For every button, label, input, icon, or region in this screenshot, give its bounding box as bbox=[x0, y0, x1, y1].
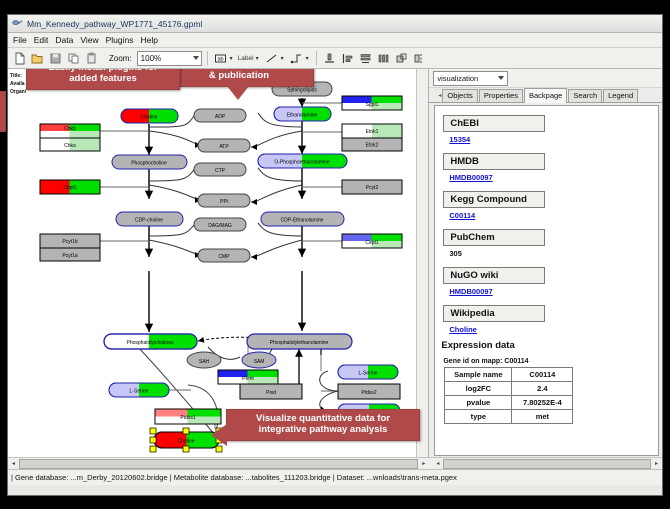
svg-text:Ethanolamine: Ethanolamine bbox=[287, 113, 318, 119]
window-title: Mm_Kennedy_pathway_WP1771_45176.gpml bbox=[27, 19, 202, 29]
text-label-icon[interactable]: ab bbox=[213, 51, 228, 66]
backpage-section-wikipedia: Wikipedia Choline bbox=[443, 303, 658, 334]
align-left-icon[interactable] bbox=[340, 51, 355, 66]
side-tabs: ◂ Objects Properties Backpage Search Leg… bbox=[429, 88, 662, 103]
node-chkb-chka[interactable]: Chkb Chka bbox=[40, 124, 100, 151]
svg-text:DAG/MAG: DAG/MAG bbox=[208, 223, 232, 229]
pisd-route bbox=[271, 347, 338, 411]
chevron-down-icon[interactable]: ▾ bbox=[281, 55, 284, 62]
menu-view[interactable]: View bbox=[80, 35, 98, 45]
cell-value-type: met bbox=[512, 410, 573, 424]
svg-text:O-Phosphoethanolamine: O-Phosphoethanolamine bbox=[274, 160, 330, 166]
toolbar-divider bbox=[207, 51, 208, 65]
visualization-bar: visualization bbox=[429, 69, 662, 88]
node-adp[interactable]: ADP bbox=[194, 109, 246, 122]
svg-text:SAH: SAH bbox=[199, 359, 210, 365]
pubchem-value: 305 bbox=[449, 249, 658, 258]
node-sam[interactable]: SAM bbox=[242, 352, 276, 368]
canvas-organism-label: Organi bbox=[10, 89, 27, 95]
visualization-select[interactable]: visualization bbox=[433, 71, 508, 86]
save-icon[interactable] bbox=[48, 51, 63, 66]
cell-key-type: type bbox=[445, 410, 512, 424]
hmdb-link[interactable]: HMDB00097 bbox=[449, 173, 658, 182]
backpage-section-hmdb: HMDB HMDB00097 bbox=[443, 151, 658, 182]
svg-text:L-Serine: L-Serine bbox=[359, 371, 378, 377]
callout-draw: Draw for presentation & publication bbox=[164, 69, 314, 87]
node-phosphatidylethanolamine[interactable]: Phosphatidylethanolamine bbox=[247, 334, 352, 349]
svg-text:ADP: ADP bbox=[215, 114, 226, 120]
scroll-left-icon[interactable]: ◂ bbox=[8, 458, 19, 469]
svg-text:Etnk2: Etnk2 bbox=[366, 143, 379, 149]
svg-text:Cept1: Cept1 bbox=[365, 240, 379, 246]
node-ethanolamine-top[interactable]: Ethanolamine bbox=[274, 107, 331, 121]
zoom-combobox[interactable]: 100% bbox=[137, 51, 202, 66]
copy-icon[interactable] bbox=[66, 51, 81, 66]
node-ptdss1[interactable]: Ptdss1 bbox=[155, 409, 221, 424]
backpage-section-kegg: Kegg Compound C00114 bbox=[443, 189, 658, 220]
backpage-content[interactable]: ChEBI 15354 HMDB HMDB00097 Kegg Compound… bbox=[434, 105, 659, 456]
node-cdp-choline[interactable]: CDP-choline bbox=[116, 212, 183, 226]
pubchem-header: PubChem bbox=[443, 229, 545, 246]
kegg-header: Kegg Compound bbox=[443, 191, 545, 208]
open-icon[interactable] bbox=[30, 51, 45, 66]
nugo-header: NuGO wiki bbox=[443, 267, 545, 284]
svg-text:Sgpl1: Sgpl1 bbox=[366, 102, 379, 108]
visualization-value: visualization bbox=[437, 74, 478, 83]
node-atp[interactable]: ATP bbox=[198, 139, 250, 152]
svg-text:Choline: Choline bbox=[141, 115, 158, 121]
side-scroll-right-icon[interactable]: ▸ bbox=[651, 458, 662, 469]
pathway-canvas[interactable]: Title: Availa Organi bbox=[8, 69, 429, 457]
chevron-down-icon[interactable]: ▾ bbox=[256, 55, 259, 62]
node-l-serine-right[interactable]: L-Serine bbox=[338, 365, 398, 379]
chevron-down-icon[interactable]: ▾ bbox=[306, 55, 309, 62]
cell-value-log2fc: 2.4 bbox=[512, 382, 573, 396]
svg-text:Sphingolipids: Sphingolipids bbox=[287, 88, 317, 94]
svg-text:Pcyt1b: Pcyt1b bbox=[62, 239, 78, 245]
svg-text:Chkb: Chkb bbox=[64, 126, 76, 132]
cofactor-curves-left bbox=[149, 116, 201, 255]
status-text: | Gene database: ...m_Derby_20120602.bri… bbox=[11, 473, 457, 482]
title-bar: Mm_Kennedy_pathway_WP1771_45176.gpml bbox=[8, 15, 662, 33]
kegg-link[interactable]: C00114 bbox=[449, 211, 658, 220]
cell-value-sample-name: C00114 bbox=[512, 368, 573, 382]
svg-text:CDP-choline: CDP-choline bbox=[135, 218, 163, 224]
node-ppi[interactable]: PPi bbox=[198, 194, 250, 207]
canvas-available-label: Availa bbox=[10, 81, 25, 87]
svg-text:Phosphatidylethanolamine: Phosphatidylethanolamine bbox=[270, 340, 329, 346]
node-ptdss2[interactable]: Ptdss2 bbox=[338, 384, 400, 399]
stack-vertical-icon[interactable] bbox=[358, 51, 373, 66]
menu-bar: File Edit Data View Plugins Help bbox=[8, 33, 662, 48]
svg-text:CDP-Ethanolamine: CDP-Ethanolamine bbox=[281, 218, 324, 224]
svg-text:Ptdss1: Ptdss1 bbox=[180, 415, 196, 421]
side-hscroll-thumb[interactable] bbox=[443, 459, 651, 469]
node-phosphocholine[interactable]: Phosphocholine bbox=[112, 155, 187, 169]
menu-file[interactable]: File bbox=[13, 35, 27, 45]
node-pemt[interactable]: Pemt bbox=[218, 370, 278, 384]
callout-visualize-line1: Visualize quantitative data for bbox=[256, 413, 390, 424]
callout-draw-arrow bbox=[227, 86, 249, 100]
svg-text:Choline: Choline bbox=[178, 439, 195, 445]
horizontal-scrollbars[interactable]: ◂ ▸ ◂ ▸ bbox=[8, 457, 662, 469]
ungroup-icon[interactable] bbox=[412, 51, 427, 66]
wikipedia-header: Wikipedia bbox=[443, 305, 545, 322]
gene-id-on-mapp: Gene id on mapp: C00114 bbox=[443, 358, 658, 365]
tab-scroll-left-icon[interactable]: ◂ bbox=[438, 92, 441, 99]
node-sah[interactable]: SAH bbox=[187, 352, 221, 368]
nugo-link[interactable]: HMDB00097 bbox=[449, 287, 658, 296]
callout-plugins-line2: added features bbox=[69, 73, 137, 84]
node-pisd[interactable]: Pisd bbox=[240, 384, 302, 399]
group-icon[interactable] bbox=[394, 51, 409, 66]
callout-visualize-arrow bbox=[211, 424, 227, 446]
toolbar-divider bbox=[316, 51, 317, 65]
connector-icon[interactable] bbox=[289, 51, 304, 66]
svg-text:Pisd: Pisd bbox=[266, 390, 276, 396]
align-bottom-icon[interactable] bbox=[322, 51, 337, 66]
canvas-title-label: Title: bbox=[10, 73, 22, 79]
node-choline-top[interactable]: Choline bbox=[121, 109, 178, 123]
svg-text:Phosphocholine: Phosphocholine bbox=[131, 161, 167, 167]
node-phosphatidylcholines[interactable]: Phosphatidylcholines bbox=[104, 334, 197, 349]
callout-draw-line2: & publication bbox=[209, 70, 269, 81]
cell-key-pvalue: pvalue bbox=[445, 396, 512, 410]
line-icon[interactable] bbox=[264, 51, 279, 66]
pathvisio-window: Mm_Kennedy_pathway_WP1771_45176.gpml Fil… bbox=[7, 14, 663, 496]
cell-value-pvalue: 7.80252E-4 bbox=[512, 396, 573, 410]
toolbar: Zoom: 100% ab ▾ Label ▾ ▾ ▾ bbox=[8, 48, 662, 69]
svg-text:ATP: ATP bbox=[219, 144, 229, 150]
svg-text:Pcyt2: Pcyt2 bbox=[366, 185, 379, 191]
chevron-down-icon bbox=[193, 56, 199, 60]
node-sgpl1[interactable]: Sgpl1 bbox=[342, 96, 402, 110]
svg-text:CMP: CMP bbox=[218, 254, 230, 260]
menu-edit[interactable]: Edit bbox=[34, 35, 49, 45]
canvas-vertical-scrollbar[interactable] bbox=[416, 69, 428, 457]
menu-data[interactable]: Data bbox=[55, 35, 73, 45]
canvas-hscroll-thumb[interactable] bbox=[19, 459, 418, 469]
expression-data-title: Expression data bbox=[441, 340, 658, 351]
tab-backpage[interactable]: Backpage bbox=[524, 88, 567, 103]
label-button[interactable]: Label bbox=[238, 55, 254, 62]
callout-visualize: Visualize quantitative data for integrat… bbox=[226, 409, 420, 441]
node-o-phosphoethanolamine[interactable]: O-Phosphoethanolamine bbox=[258, 154, 347, 168]
wikipedia-link[interactable]: Choline bbox=[449, 325, 658, 334]
distribute-horizontal-icon[interactable] bbox=[376, 51, 391, 66]
node-pcyt2[interactable]: Pcyt2 bbox=[342, 180, 402, 194]
tab-search[interactable]: Search bbox=[568, 89, 602, 102]
node-pcyt1b-pcyt1a[interactable]: Pcyt1b Pcyt1a bbox=[40, 234, 100, 261]
chebi-link[interactable]: 15354 bbox=[449, 135, 658, 144]
node-dag-mag[interactable]: DAG/MAG bbox=[194, 218, 246, 231]
cell-key-log2fc: log2FC bbox=[445, 382, 512, 396]
backpage-section-chebi: ChEBI 15354 bbox=[443, 113, 658, 144]
zoom-label: Zoom: bbox=[109, 54, 132, 63]
scroll-right-icon[interactable]: ▸ bbox=[418, 458, 429, 469]
node-cept1[interactable]: Cept1 bbox=[342, 234, 402, 248]
node-l-serine-left[interactable]: L-Serine bbox=[109, 383, 169, 397]
tab-legend[interactable]: Legend bbox=[603, 89, 638, 102]
svg-text:Pcyt1a: Pcyt1a bbox=[62, 253, 78, 259]
svg-text:Phosphatidylcholines: Phosphatidylcholines bbox=[127, 340, 174, 346]
hmdb-header: HMDB bbox=[443, 153, 545, 170]
backpage-section-pubchem: PubChem 305 bbox=[443, 227, 658, 258]
svg-text:SAM: SAM bbox=[254, 359, 265, 365]
tab-properties[interactable]: Properties bbox=[479, 89, 523, 102]
chevron-down-icon[interactable]: ▾ bbox=[230, 55, 233, 62]
chevron-down-icon bbox=[498, 76, 504, 80]
callout-plugins: Easily install plugins for added feature… bbox=[26, 69, 180, 90]
zoom-value: 100% bbox=[141, 54, 161, 63]
svg-text:Pemt: Pemt bbox=[242, 376, 254, 382]
cofactor-curves-right bbox=[251, 113, 302, 257]
svg-text:Chpt1: Chpt1 bbox=[63, 185, 77, 191]
table-row: pvalue 7.80252E-4 bbox=[445, 396, 573, 410]
callout-links: Link to external databases for more info… bbox=[0, 91, 6, 132]
table-row: Sample name C00114 bbox=[445, 368, 573, 382]
backpage-section-nugo: NuGO wiki HMDB00097 bbox=[443, 265, 658, 296]
menu-help[interactable]: Help bbox=[141, 35, 158, 45]
side-scroll-left-icon[interactable]: ◂ bbox=[432, 458, 443, 469]
node-cmp[interactable]: CMP bbox=[198, 249, 250, 262]
node-etnk1-etnk2[interactable]: Etnk1 Etnk2 bbox=[342, 124, 402, 151]
chebi-header: ChEBI bbox=[443, 115, 545, 132]
paste-icon[interactable] bbox=[84, 51, 99, 66]
svg-text:ab: ab bbox=[217, 56, 223, 62]
side-panel: visualization ◂ Objects Properties Backp… bbox=[429, 69, 662, 457]
svg-text:PPi: PPi bbox=[220, 199, 228, 205]
svg-text:CTP: CTP bbox=[215, 168, 226, 174]
main-area: Title: Availa Organi bbox=[8, 69, 662, 457]
svg-text:Ptdss2: Ptdss2 bbox=[361, 390, 377, 396]
table-row: log2FC 2.4 bbox=[445, 382, 573, 396]
status-bar: | Gene database: ...m_Derby_20120602.bri… bbox=[8, 469, 662, 485]
pathway-diagram[interactable]: Title: Availa Organi bbox=[8, 69, 429, 457]
svg-text:Chka: Chka bbox=[64, 143, 76, 149]
svg-text:Etnk1: Etnk1 bbox=[366, 129, 379, 135]
node-cdp-ethanolamine[interactable]: CDP-Ethanolamine bbox=[261, 212, 344, 226]
new-icon[interactable] bbox=[12, 51, 27, 66]
pathvisio-icon bbox=[12, 18, 23, 29]
callout-visualize-line2: integrative pathway analysis bbox=[259, 424, 388, 435]
node-ctp[interactable]: CTP bbox=[194, 163, 246, 176]
svg-text:L-Serine: L-Serine bbox=[130, 389, 149, 395]
table-row: type met bbox=[445, 410, 573, 424]
cell-key-sample-name: Sample name bbox=[445, 368, 512, 382]
node-chpt1[interactable]: Chpt1 bbox=[40, 180, 100, 194]
tab-objects[interactable]: Objects bbox=[442, 89, 477, 102]
menu-plugins[interactable]: Plugins bbox=[106, 35, 134, 45]
expression-table: Sample name C00114 log2FC 2.4 pvalue 7.8… bbox=[444, 367, 573, 424]
